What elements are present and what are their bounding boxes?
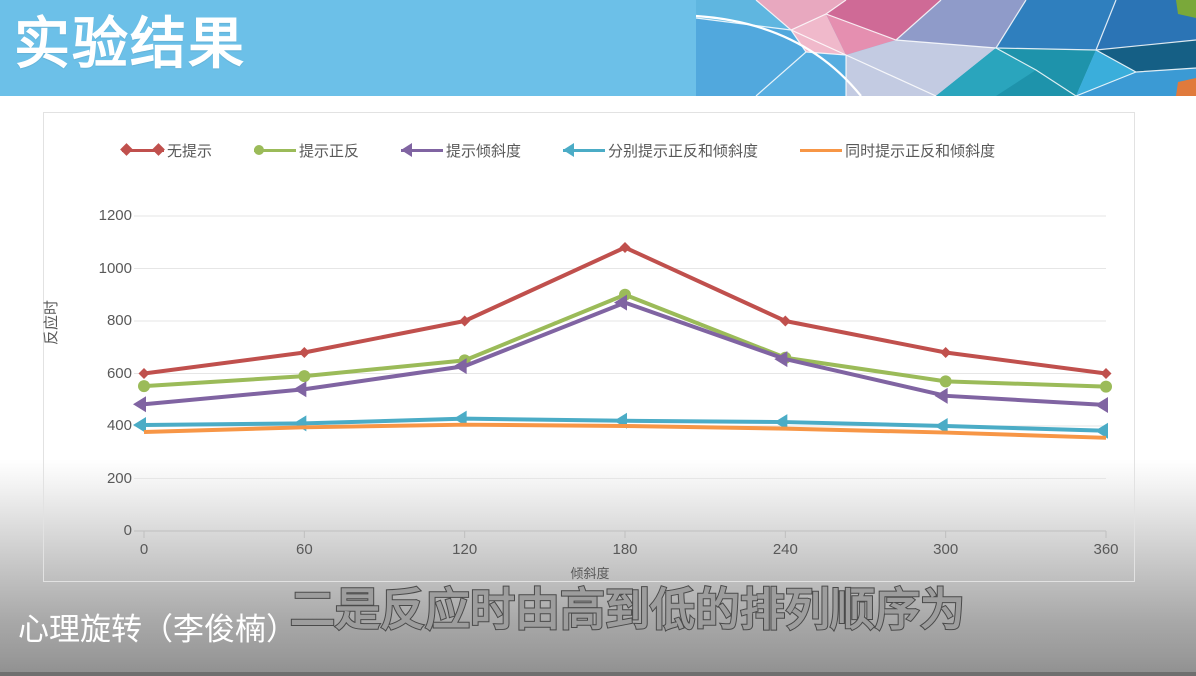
presentation-slide: 实验结果 无提示 提示正反 <box>0 0 1196 676</box>
data-point-marker <box>139 368 150 379</box>
series-line-0 <box>144 248 1106 374</box>
y-tick-label: 0 <box>78 522 132 539</box>
data-point-marker <box>138 380 150 392</box>
y-tick-label: 600 <box>78 365 132 382</box>
data-point-marker <box>1100 381 1112 393</box>
x-tick-label: 0 <box>114 541 174 558</box>
x-tick-label: 180 <box>595 541 655 558</box>
chart-plot-area: 反应时 倾斜度 020040060080010001200 0601201802… <box>44 113 1136 583</box>
data-point-marker <box>133 396 146 412</box>
slide-header-band: 实验结果 <box>0 0 1196 96</box>
data-point-marker <box>1101 368 1112 379</box>
chart-svg <box>44 113 1136 583</box>
bottom-edge-bar <box>0 672 1196 676</box>
x-tick-label: 60 <box>274 541 334 558</box>
overlay-subtitle-text: 二是反应时由高到低的排列顺序为 <box>290 583 965 637</box>
y-tick-label: 200 <box>78 470 132 487</box>
x-tick-label: 300 <box>916 541 976 558</box>
x-tick-label: 360 <box>1076 541 1136 558</box>
footer-author-text: 心理旋转（李俊楠） <box>18 608 297 652</box>
x-tick-label: 120 <box>435 541 495 558</box>
header-divider <box>0 96 1196 99</box>
y-tick-label: 800 <box>78 312 132 329</box>
y-tick-label: 400 <box>78 417 132 434</box>
polygon-decoration-graphic <box>696 0 1196 96</box>
page-title: 实验结果 <box>14 8 246 80</box>
data-point-marker <box>940 375 952 387</box>
data-point-marker <box>935 388 948 404</box>
data-point-marker <box>293 381 306 397</box>
data-point-marker <box>299 347 310 358</box>
data-point-marker <box>940 347 951 358</box>
y-tick-label: 1200 <box>78 207 132 224</box>
y-tick-label: 1000 <box>78 260 132 277</box>
data-point-marker <box>1095 397 1108 413</box>
chart-container: 无提示 提示正反 提示倾斜度 <box>43 112 1135 582</box>
x-tick-label: 240 <box>755 541 815 558</box>
data-point-marker <box>298 370 310 382</box>
